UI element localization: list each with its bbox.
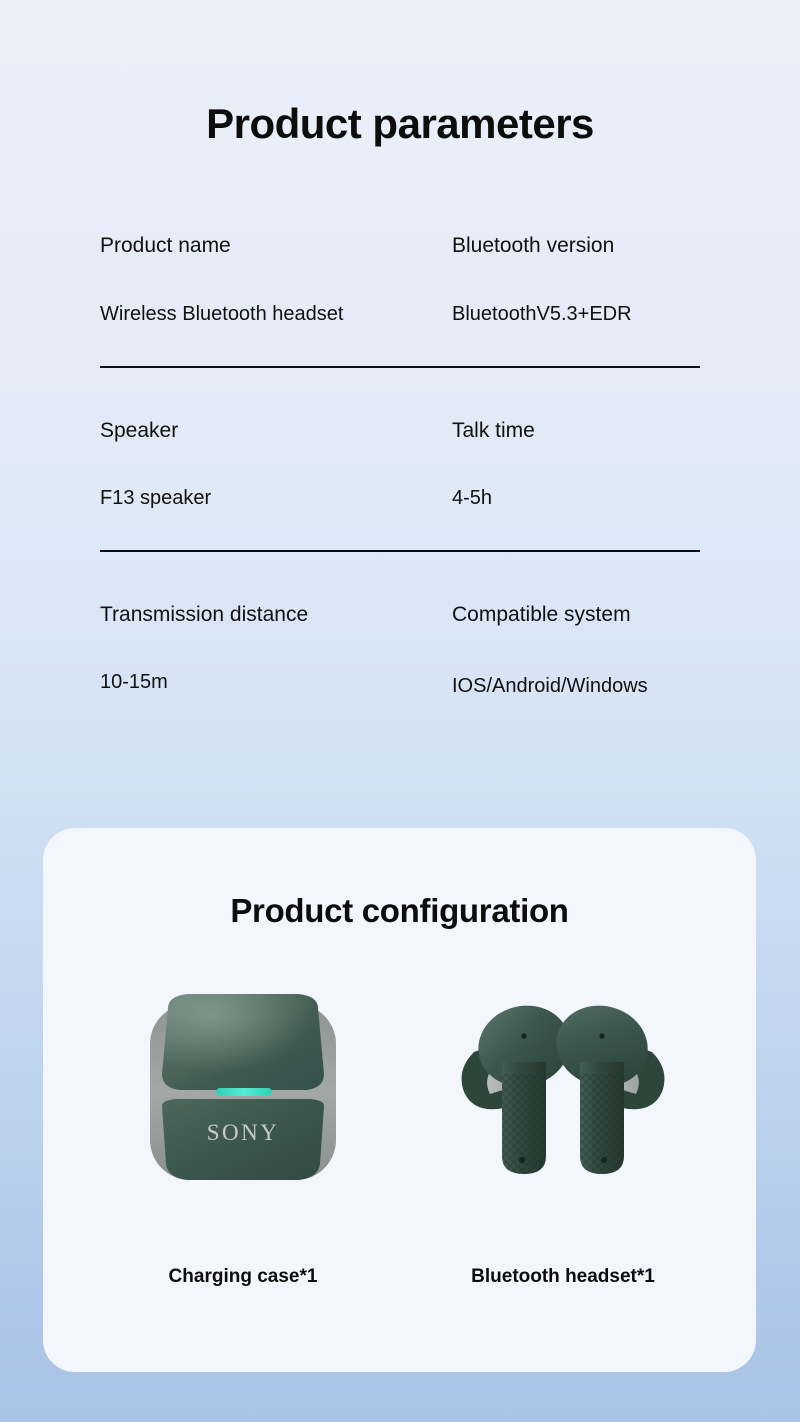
sony-brand-text: SONY [207, 1120, 280, 1145]
spacer [100, 441, 700, 488]
spec-cell-talk-time: Talk time [452, 420, 700, 441]
spec-value: 4-5h [452, 488, 700, 508]
spec-cell-transmission-distance: Transmission distance [100, 604, 452, 625]
spec-value: 10-15m [100, 672, 452, 692]
mic-hole-icon [521, 1033, 526, 1038]
spec-cell-product-name: Product name [100, 235, 452, 256]
page-title: Product parameters [0, 100, 800, 148]
spec-row-speaker-values: F13 speaker 4-5h [100, 488, 700, 508]
spacer [100, 625, 700, 672]
product-configuration-card: Product configuration [43, 828, 756, 1372]
spec-row-transmission-distance: Transmission distance Compatible system [100, 604, 700, 625]
spec-value: IOS/Android/Windows [452, 676, 700, 696]
contact-point-icon [519, 1157, 525, 1163]
spec-row-speaker: Speaker Talk time [100, 420, 700, 441]
earbuds-caption: Bluetooth headset*1 [403, 1266, 723, 1288]
spec-cell-transmission-distance-value: 10-15m [100, 672, 452, 696]
spec-cell-bluetooth-version-value: BluetoothV5.3+EDR [452, 304, 700, 324]
led-indicator-icon [216, 1088, 272, 1096]
spacer [100, 508, 700, 550]
spacer [100, 256, 700, 304]
spec-value: F13 speaker [100, 488, 452, 508]
charging-case-caption: Charging case*1 [83, 1266, 403, 1288]
contact-point-icon [601, 1157, 607, 1163]
spec-label: Speaker [100, 420, 452, 441]
product-parameters-page: Product parameters Product name Bluetoot… [0, 0, 800, 1422]
spec-cell-talk-time-value: 4-5h [452, 488, 700, 508]
spec-label: Talk time [452, 420, 700, 441]
configuration-items: SONY Charging case*1 [43, 978, 756, 1308]
spec-label: Bluetooth version [452, 235, 700, 256]
spec-row-product-name: Product name Bluetooth version [100, 235, 700, 256]
spec-value: Wireless Bluetooth headset [100, 304, 452, 324]
spec-value: BluetoothV5.3+EDR [452, 304, 700, 324]
spec-label: Transmission distance [100, 604, 452, 625]
earbuds-image [403, 978, 723, 1218]
spec-cell-speaker-value: F13 speaker [100, 488, 452, 508]
configuration-item-charging-case: SONY Charging case*1 [83, 978, 403, 1308]
spec-cell-product-name-value: Wireless Bluetooth headset [100, 304, 452, 324]
spacer [100, 368, 700, 420]
left-earbud [462, 996, 579, 1174]
right-earbud [548, 996, 665, 1174]
spec-cell-compatible-system-value: IOS/Android/Windows [452, 672, 700, 696]
spec-cell-compatible-system: Compatible system [452, 604, 700, 625]
spec-cell-bluetooth-version: Bluetooth version [452, 235, 700, 256]
charging-case-image: SONY [83, 978, 403, 1218]
spec-cell-speaker: Speaker [100, 420, 452, 441]
spec-label: Compatible system [452, 604, 700, 625]
spec-row-transmission-values: 10-15m IOS/Android/Windows [100, 672, 700, 696]
spec-row-product-name-values: Wireless Bluetooth headset BluetoothV5.3… [100, 304, 700, 324]
spec-label: Product name [100, 235, 452, 256]
configuration-item-earbuds: Bluetooth headset*1 [403, 978, 723, 1308]
spacer [100, 324, 700, 366]
configuration-title: Product configuration [43, 892, 756, 930]
spec-table: Product name Bluetooth version Wireless … [100, 235, 700, 696]
spacer [100, 552, 700, 604]
mic-hole-icon [599, 1033, 604, 1038]
